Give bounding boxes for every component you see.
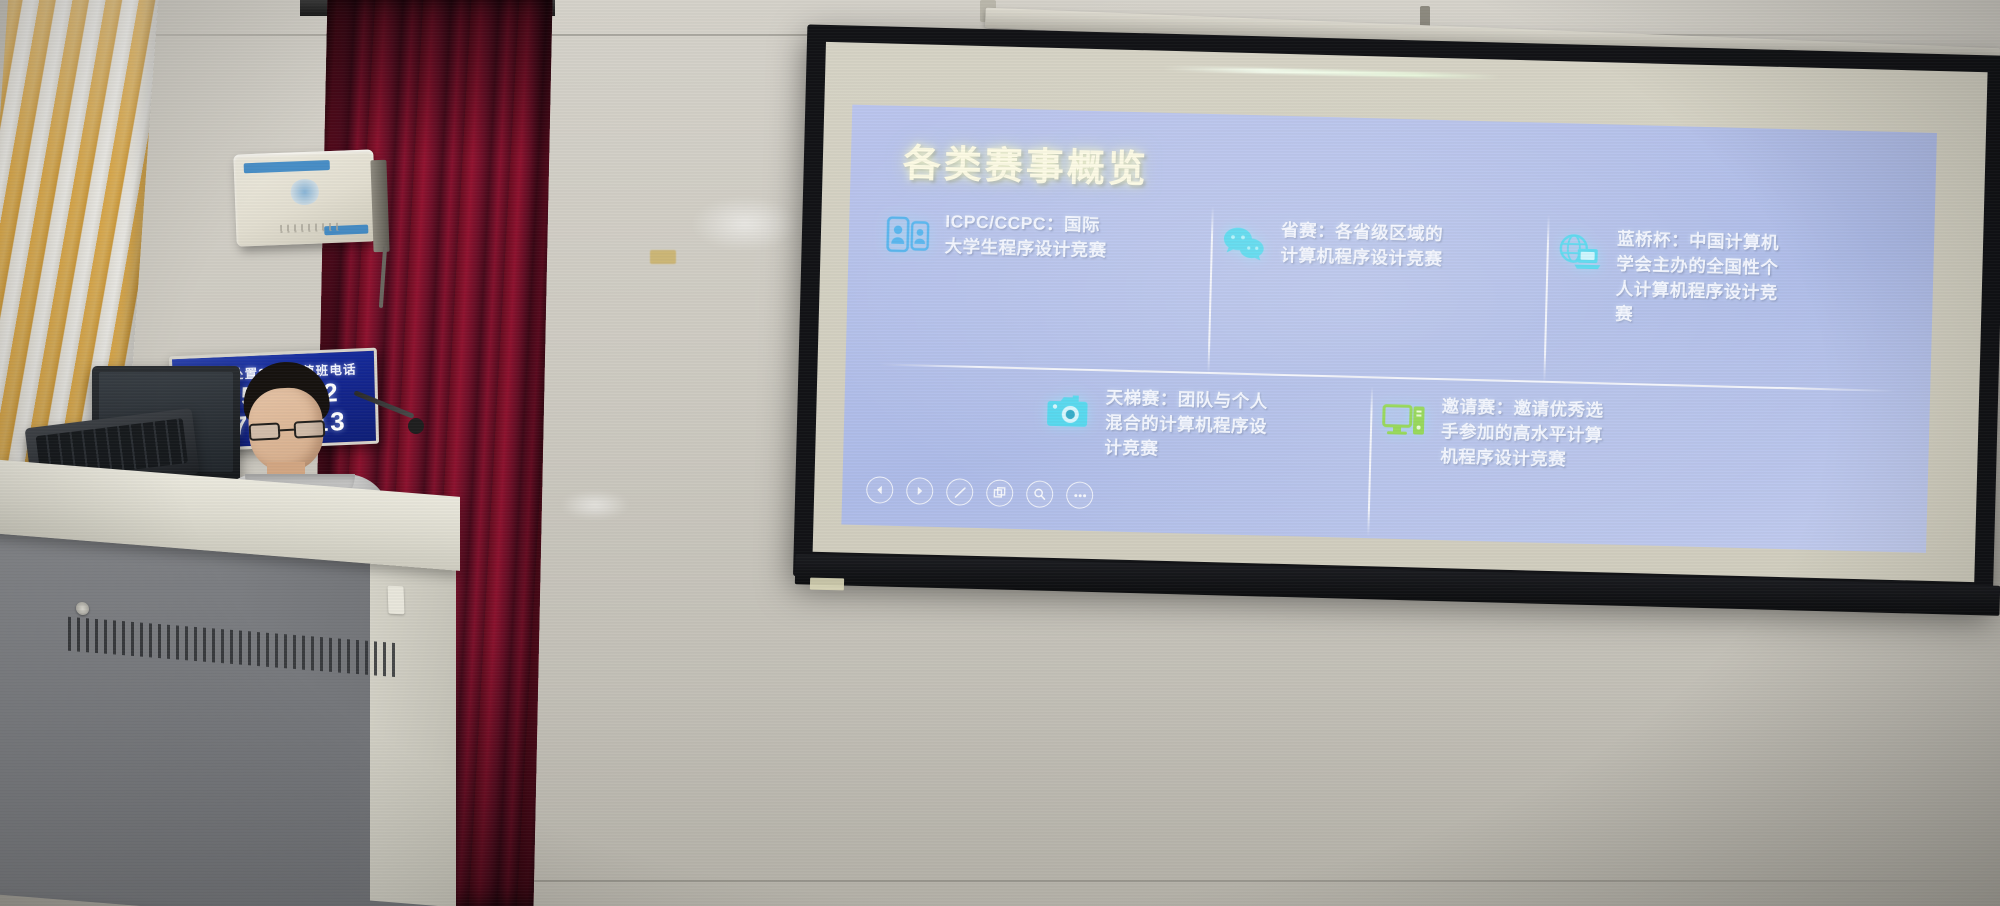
- row-divider: [880, 363, 1896, 392]
- projected-slide: 各类赛事概览: [841, 105, 1937, 553]
- camera-icon: [1045, 388, 1092, 435]
- chat-bubbles-icon: [1220, 220, 1267, 267]
- slide-cell-icpc: ICPC/CCPC：国际大学生程序设计竞赛: [873, 203, 1212, 319]
- slide-cell-lanqiaobei: 蓝桥杯：中国计算机学会主办的全国性个人计算机程序设计竞赛: [1545, 221, 1888, 337]
- slide-cell-text: 蓝桥杯：中国计算机学会主办的全国性个人计算机程序设计竞赛: [1615, 227, 1780, 331]
- slide-cell-text: 省赛：各省级区域的计算机程序设计竞赛: [1280, 218, 1443, 272]
- podium-sticker: [388, 586, 405, 615]
- previous-slide-button[interactable]: [866, 476, 894, 504]
- more-options-button[interactable]: [1066, 481, 1094, 509]
- slide-row-bottom: 天梯赛：团队与个人混合的计算机程序设计竞赛: [1034, 379, 1708, 479]
- desktop-computer-icon: [1381, 397, 1428, 444]
- globe-laptop-icon: [1556, 229, 1603, 276]
- slide-cell-tianti: 天梯赛：团队与个人混合的计算机程序设计竞赛: [1034, 379, 1372, 470]
- slide-row-top: ICPC/CCPC：国际大学生程序设计竞赛: [873, 203, 1887, 337]
- slide-cell-text: 邀请赛：邀请优秀选手参加的高水平计算机程序设计竞赛: [1440, 394, 1604, 473]
- glasses-right-lens: [294, 420, 326, 439]
- lecture-hall-photo: 校应急处置24小时值班电话 87557322 87557113 各类赛事概览: [0, 0, 2000, 906]
- two-id-cards-icon: [884, 211, 931, 258]
- slide-cell-provincial: 省赛：各省级区域的计算机程序设计竞赛: [1209, 212, 1548, 328]
- slide-cell-text: ICPC/CCPC：国际大学生程序设计竞赛: [944, 209, 1107, 263]
- podium-lock: [76, 601, 89, 615]
- microphone-head: [408, 418, 424, 434]
- device-logo: [289, 179, 320, 206]
- podium-side-panel: [370, 511, 456, 906]
- whiteboard-button[interactable]: [986, 479, 1014, 507]
- slide-cell-text: 天梯赛：团队与个人混合的计算机程序设计竞赛: [1104, 385, 1268, 464]
- projection-screen-frame: 各类赛事概览: [793, 24, 2000, 607]
- wall-smudge: [690, 196, 800, 252]
- slide-title: 各类赛事概览: [902, 132, 1149, 193]
- device-mount-bracket: [370, 160, 389, 253]
- screen-bar-sticker: [810, 578, 844, 591]
- ceiling-light-reflection: [1162, 66, 1499, 80]
- wall-mounted-speaker-unit: [233, 149, 376, 246]
- glasses-bridge: [280, 429, 294, 432]
- device-label-strip: [244, 160, 330, 173]
- zoom-magnifier-button[interactable]: [1026, 480, 1054, 508]
- wall-smudge: [560, 490, 630, 520]
- pen-annotation-button[interactable]: [946, 478, 974, 506]
- glasses-left-lens: [249, 422, 281, 441]
- wall-paint-chip: [650, 250, 676, 264]
- next-slide-button[interactable]: [906, 477, 934, 505]
- projection-screen-surface: 各类赛事概览: [813, 42, 1988, 582]
- lectern-podium: [0, 478, 460, 906]
- slide-cell-invitational: 邀请赛：邀请优秀选手参加的高水平计算机程序设计竞赛: [1370, 388, 1708, 479]
